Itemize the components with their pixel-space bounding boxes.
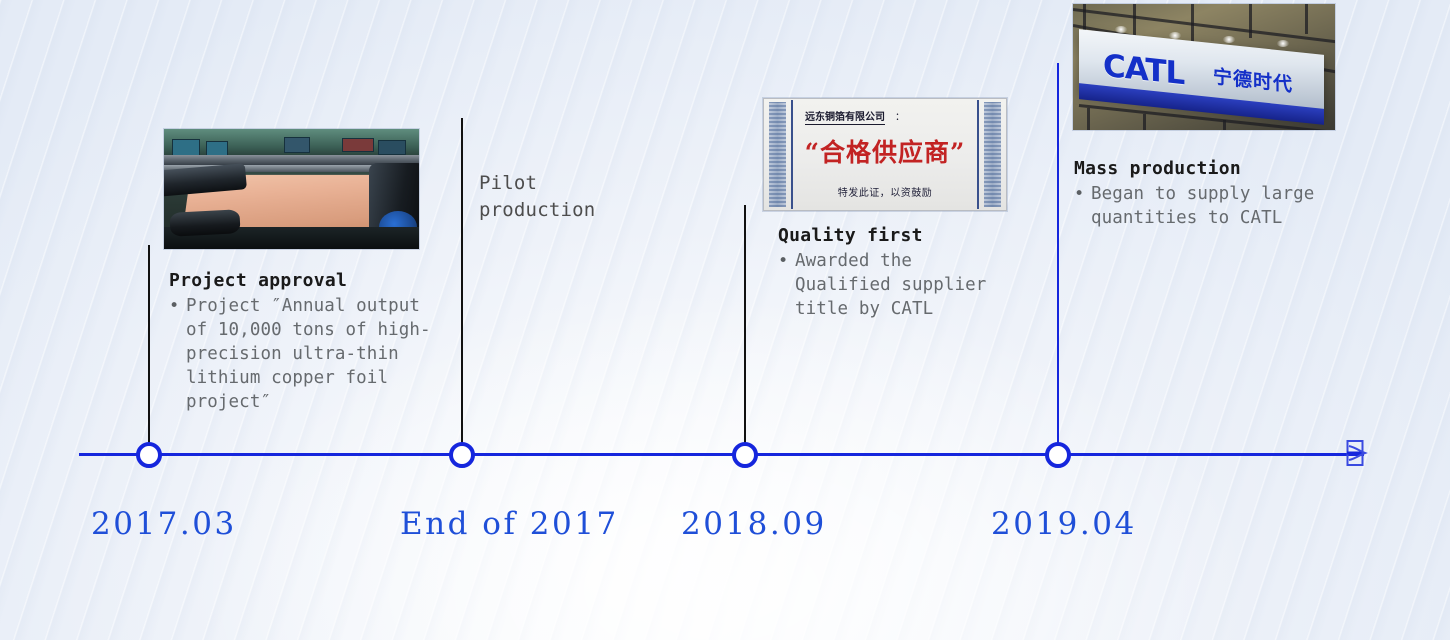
event-text-2019-04: Mass production • Began to supply large … — [1074, 158, 1364, 230]
bullet-dot-icon: • — [169, 294, 186, 318]
connector-line-2019-04 — [1057, 63, 1059, 450]
connector-line-2018-09 — [744, 205, 746, 450]
timeline-marker-2019-04[interactable] — [1045, 442, 1071, 468]
event-title-2017-03: Project approval — [169, 270, 439, 291]
event-bullet-text-2019-04: Began to supply large quantities to CATL — [1091, 182, 1314, 230]
certificate-header-colon: ： — [895, 108, 905, 123]
event-bullet-2019-04: • Began to supply large quantities to CA… — [1074, 182, 1364, 230]
date-label-end-2017: End of 2017 — [400, 506, 619, 542]
copper-foil-production-line-photo — [164, 129, 419, 249]
event-text-end-2017: Pilot production — [479, 170, 679, 227]
timeline-marker-end-2017[interactable] — [449, 442, 475, 468]
event-text-2018-09: Quality first • Awarded the Qualified su… — [778, 225, 1028, 321]
timeline-axis-line — [79, 453, 1364, 456]
certificate-footer-text: 特发此证，以资鼓励 — [763, 184, 1007, 199]
date-label-2018-09: 2018.09 — [681, 506, 827, 542]
event-text-2017-03: Project approval • Project ″Annual outpu… — [169, 270, 439, 414]
catl-booth-photo: CATL 宁德时代 — [1073, 4, 1335, 130]
event-title-2019-04: Mass production — [1074, 158, 1364, 179]
arrow-right-icon — [1346, 438, 1368, 468]
qualified-supplier-certificate-photo: 远东铜箔有限公司 ： “合格供应商” 特发此证，以资鼓励 — [763, 98, 1007, 211]
certificate-header-text: 远东铜箔有限公司 — [805, 108, 885, 125]
bullet-dot-icon: • — [778, 249, 795, 273]
event-bullet-2017-03: • Project ″Annual output of 10,000 tons … — [169, 294, 439, 414]
event-bullet-text-2018-09: Awarded the Qualified supplier title by … — [795, 249, 986, 321]
event-bullet-text-2017-03: Project ″Annual output of 10,000 tons of… — [186, 294, 431, 414]
connector-line-end-2017 — [461, 118, 463, 450]
event-title-2018-09: Quality first — [778, 225, 1028, 246]
event-bullet-2018-09: • Awarded the Qualified supplier title b… — [778, 249, 1028, 321]
bullet-dot-icon: • — [1074, 182, 1091, 206]
date-label-2019-04: 2019.04 — [991, 506, 1137, 542]
connector-line-2017-03 — [148, 245, 150, 450]
timeline-marker-2018-09[interactable] — [732, 442, 758, 468]
event-title-end-2017: Pilot production — [479, 170, 679, 224]
timeline-marker-2017-03[interactable] — [136, 442, 162, 468]
date-label-2017-03: 2017.03 — [91, 506, 237, 542]
timeline-slide: 2017.03 End of 2017 2018.09 2019.04 Proj… — [0, 0, 1450, 640]
certificate-main-text: “合格供应商” — [763, 133, 1007, 169]
